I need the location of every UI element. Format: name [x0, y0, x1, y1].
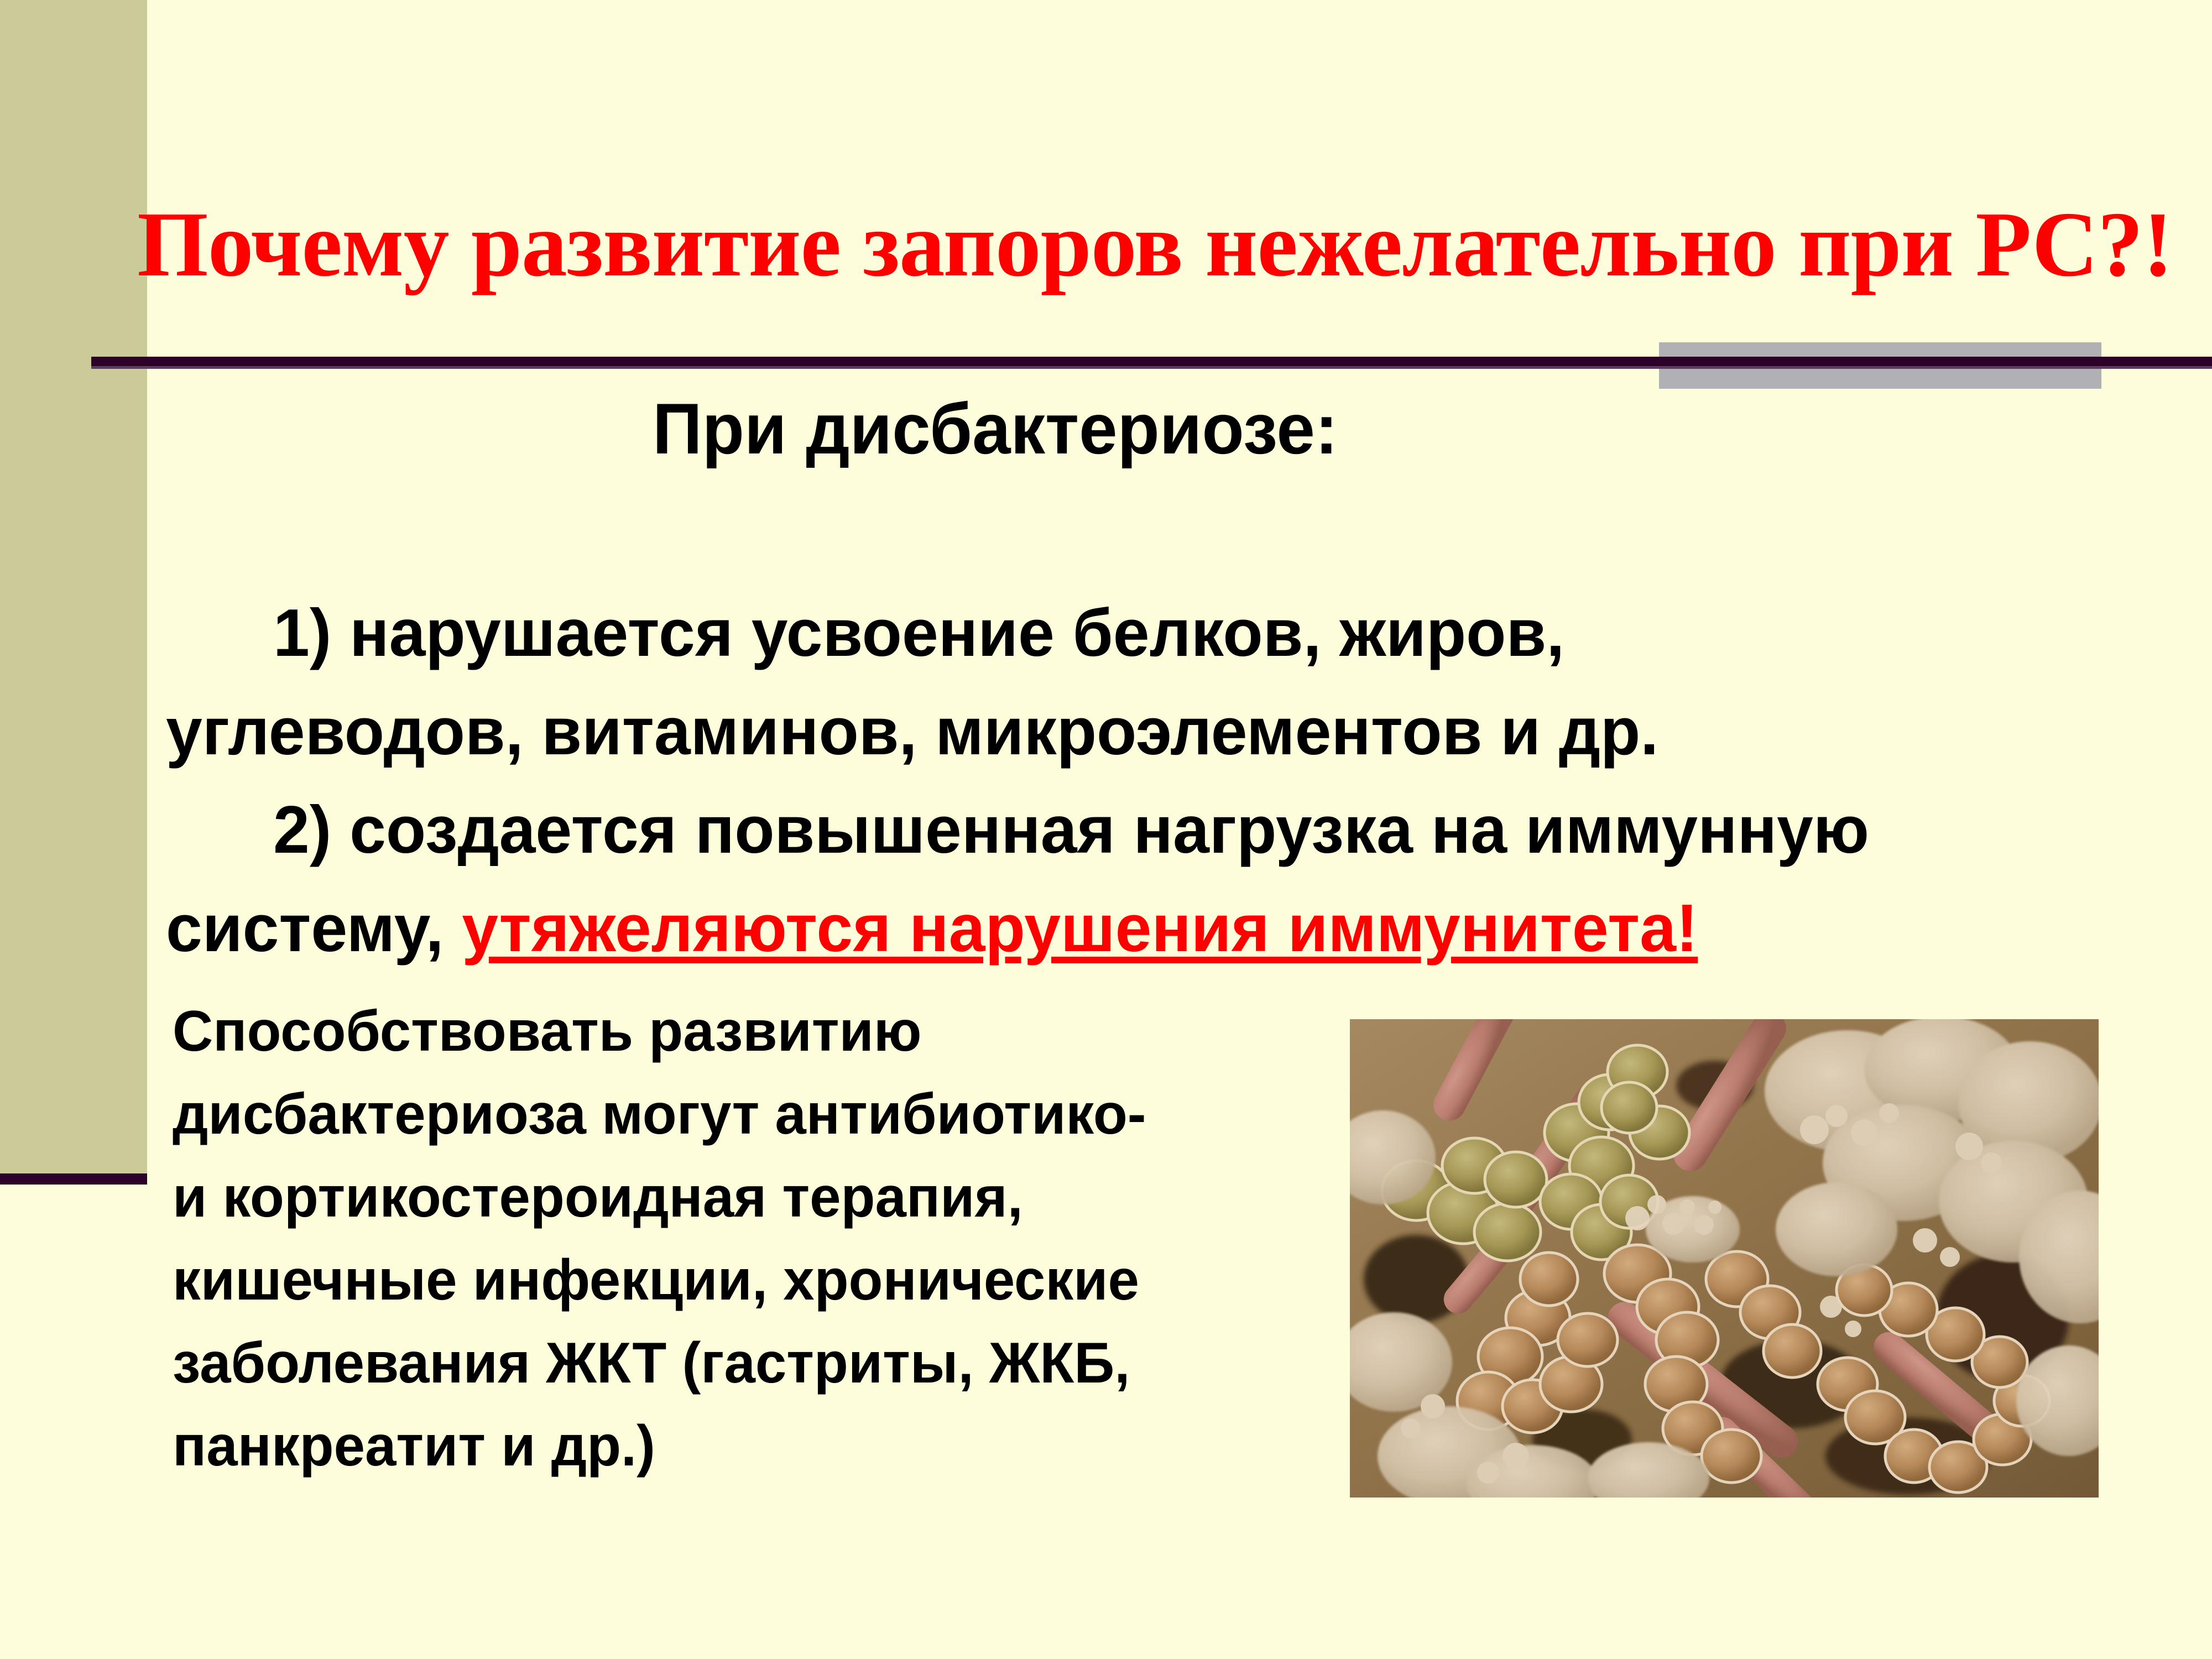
body-item-2-line-2: систему, утяжеляются нарушения иммунитет… [166, 879, 2107, 977]
slide-subtitle: При дисбактериозе: [653, 387, 1338, 470]
bacteria-micrograph-svg [1350, 1019, 2099, 1498]
body-item-1-line-2: углеводов, витаминов, микроэлементов и д… [166, 682, 2107, 780]
note-line-2: дисбактериоза могут антибиотико- [173, 1073, 1332, 1156]
note-line-1: Способствовать развитию [173, 990, 1332, 1073]
body-item-2-line-2-black: систему, [166, 890, 462, 966]
note-text-block: Способствовать развитию дисбактериоза мо… [173, 990, 1332, 1488]
title-divider-rule [91, 357, 2212, 366]
note-line-5: заболевания ЖКТ (гастриты, ЖКБ, [173, 1322, 1332, 1405]
bacteria-micrograph-image [1350, 1019, 2099, 1498]
left-olive-panel [0, 0, 147, 1173]
note-line-4: кишечные инфекции, хронические [173, 1239, 1332, 1322]
body-item-2-highlight-red: утяжеляются нарушения иммунитета! [462, 890, 1698, 966]
left-panel-underline [0, 1173, 147, 1185]
note-line-6: панкреатит и др.) [173, 1405, 1332, 1488]
title-divider-rule-shadow [91, 366, 2212, 369]
slide-canvas: Почему развитие запоров нежелательно при… [0, 0, 2212, 1659]
note-line-3: и кортикостероидная терапия, [173, 1156, 1332, 1239]
body-text-block: 1) нарушается усвоение белков, жиров, уг… [166, 583, 2107, 977]
slide-title: Почему развитие запоров нежелательно при… [137, 195, 2077, 300]
body-item-2-line-1-text: 2) создается повышенная нагрузка на имму… [273, 792, 1869, 867]
body-item-1-line-1: 1) нарушается усвоение белков, жиров, [166, 583, 2107, 682]
body-item-2-line-1: 2) создается повышенная нагрузка на имму… [166, 780, 2107, 879]
body-item-1-line-1-text: 1) нарушается усвоение белков, жиров, [273, 595, 1564, 670]
